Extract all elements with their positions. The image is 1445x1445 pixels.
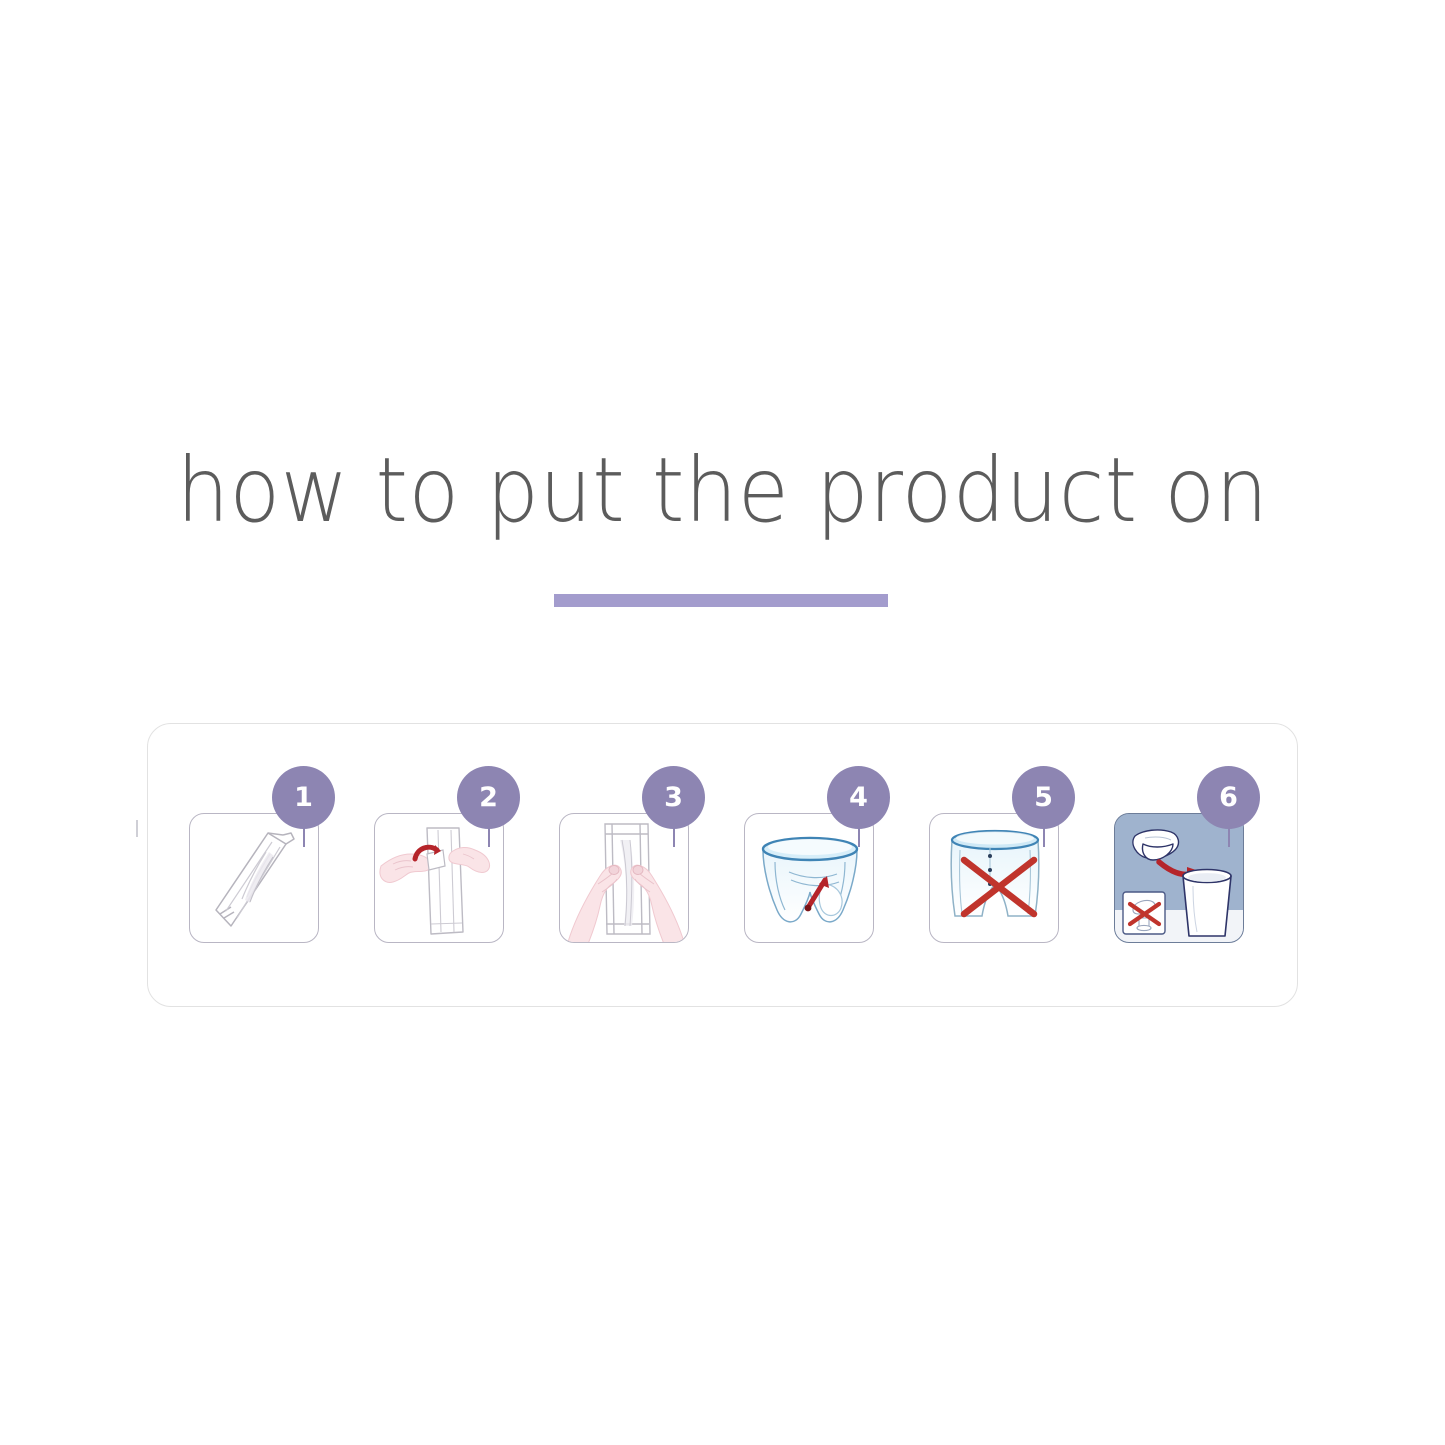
folded-product-pack-icon [190,814,319,943]
hands-tearing-package-icon [375,814,504,943]
page-title: how to put the product on [51,446,1395,535]
instructions-panel: 1 2 [147,723,1298,1007]
dispose-in-bin-icon [1115,814,1244,943]
step-5-badge: 5 [1012,766,1075,829]
step-5-card[interactable] [929,813,1059,943]
step-6[interactable]: 6 [1114,813,1244,943]
step-6-card[interactable] [1114,813,1244,943]
panel-left-tick [136,820,138,837]
pull-up-brief-icon [745,814,874,943]
step-1-card[interactable] [189,813,319,943]
title-underline-rule [554,594,888,607]
slide-root: how to put the product on [0,0,1445,1445]
step-4-badge: 4 [827,766,890,829]
step-1[interactable]: 1 [189,813,319,943]
hands-unfolding-product-icon [560,814,689,943]
step-3-badge: 3 [642,766,705,829]
steps-row: 1 2 [148,724,1297,1006]
step-1-badge: 1 [272,766,335,829]
step-2-badge: 2 [457,766,520,829]
step-3-card[interactable] [559,813,689,943]
step-5[interactable]: 5 [929,813,1059,943]
step-6-badge: 6 [1197,766,1260,829]
boxer-shorts-crossed-out-icon [930,814,1059,943]
step-4-card[interactable] [744,813,874,943]
step-3[interactable]: 3 [559,813,689,943]
step-4[interactable]: 4 [744,813,874,943]
step-2[interactable]: 2 [374,813,504,943]
step-2-card[interactable] [374,813,504,943]
